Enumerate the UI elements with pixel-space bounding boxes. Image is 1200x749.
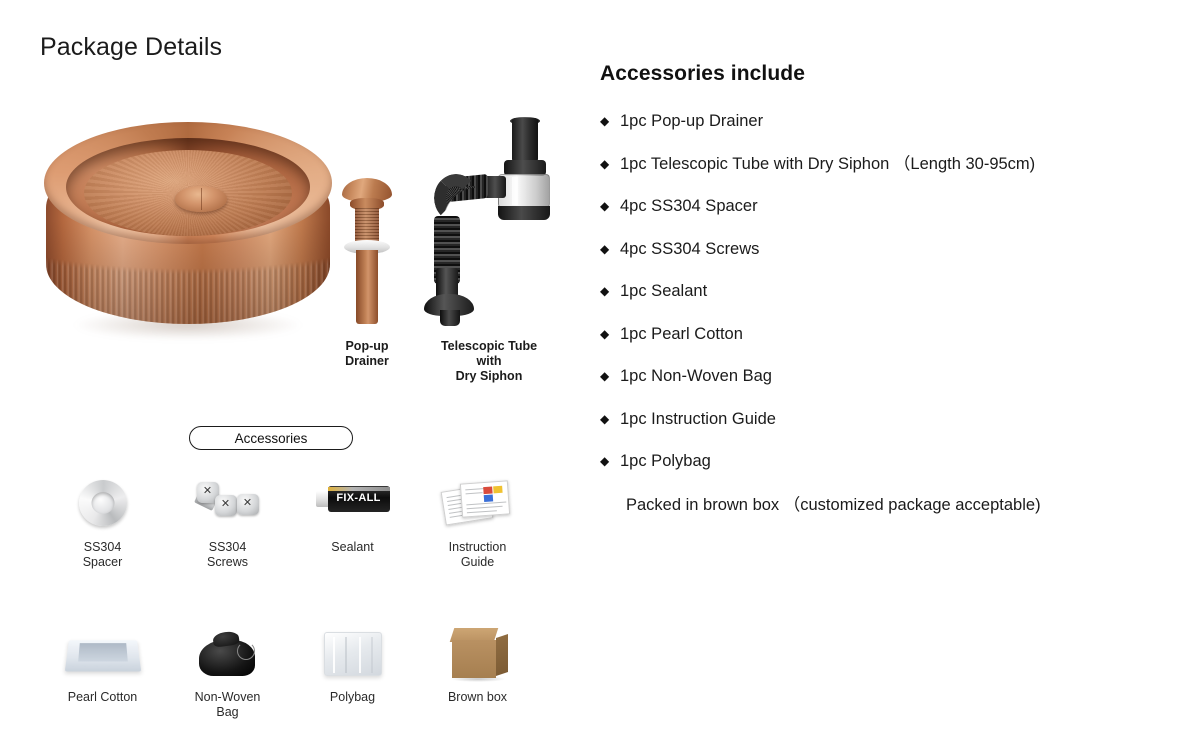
accessory-grid-row: SS304 Spacer SS304 Screws (40, 468, 560, 570)
accessory-label: SS304 Screws (165, 540, 290, 570)
diamond-bullet-icon: ◆ (600, 451, 620, 471)
pop-up-drainer-icon (340, 178, 394, 326)
list-item: ◆ 1pc Pearl Cotton (600, 324, 1170, 344)
non-woven-bag-icon (165, 622, 290, 684)
sealant-tube: FIX-ALL (316, 486, 390, 512)
pearl-cotton-box-icon (40, 622, 165, 684)
package-details-page: Package Details Pop-up Drainer (0, 0, 1200, 749)
carton-side-face (496, 634, 508, 676)
carton-front-face (452, 640, 496, 678)
polybag-sheet (324, 632, 382, 676)
basin-drain-cap (175, 186, 227, 212)
pearl-cotton-tray (67, 632, 139, 676)
list-item-label: 1pc Pop-up Drainer (620, 111, 763, 131)
sheet-text-line (466, 506, 502, 510)
diamond-bullet-icon: ◆ (600, 366, 620, 386)
accessory-label: Polybag (290, 690, 415, 705)
packaging-note: Packed in brown box （customized package … (626, 494, 1170, 516)
sheet-color-figure (483, 494, 492, 502)
washer-ring (79, 480, 127, 526)
carton-box (448, 628, 508, 678)
accessory-item-instruction-guide: Instruction Guide (415, 468, 540, 570)
polybag (324, 630, 382, 678)
list-item: ◆ 1pc Non-Woven Bag (600, 366, 1170, 386)
brown-carton-box-icon (415, 622, 540, 684)
screw-head (237, 494, 259, 515)
instruction-sheet (459, 480, 509, 517)
telescopic-tube-dry-siphon-icon (428, 118, 550, 326)
non-woven-bag (197, 630, 259, 678)
basin-render (44, 122, 332, 334)
tube-chamber-base (498, 206, 550, 220)
accessory-label: Brown box (415, 690, 540, 705)
accessory-label: SS304 Spacer (40, 540, 165, 570)
list-item-label: 1pc Non-Woven Bag (620, 366, 772, 386)
bag-drawstring (237, 642, 255, 660)
accessory-item-polybag: Polybag (290, 622, 415, 720)
accessory-label: Pearl Cotton (40, 690, 165, 705)
sheet-text-line (466, 510, 496, 513)
list-item-label: 1pc Instruction Guide (620, 409, 776, 429)
list-item: ◆ 1pc Sealant (600, 281, 1170, 301)
accessory-item-sealant: FIX-ALL Sealant (290, 468, 415, 570)
pop-up-drainer-label: Pop-up Drainer (318, 339, 416, 369)
list-item-label: 4pc SS304 Spacer (620, 196, 758, 216)
list-item-label: 4pc SS304 Screws (620, 239, 759, 259)
diamond-bullet-icon: ◆ (600, 409, 620, 429)
list-item: ◆ 4pc SS304 Spacer (600, 196, 1170, 216)
tube-vertical-inlet (512, 118, 538, 162)
accessory-grid-row: Pearl Cotton Non-Woven Bag (40, 622, 560, 720)
drainer-body-tube (356, 250, 378, 324)
page-title: Package Details (40, 33, 222, 62)
list-item: ◆ 1pc Pop-up Drainer (600, 111, 1170, 131)
diamond-bullet-icon: ◆ (600, 281, 620, 301)
list-item: ◆ 1pc Instruction Guide (600, 409, 1170, 429)
accessory-item-pearl-cotton: Pearl Cotton (40, 622, 165, 720)
polybag-icon (290, 622, 415, 684)
list-item-label: 1pc Telescopic Tube with Dry Siphon （Len… (620, 154, 1035, 174)
sealant-top-strip (328, 487, 390, 491)
diamond-bullet-icon: ◆ (600, 239, 620, 259)
list-item: ◆ 4pc SS304 Screws (600, 239, 1170, 259)
tube-bend (434, 174, 478, 222)
washer-spacer-icon (40, 468, 165, 534)
diamond-bullet-icon: ◆ (600, 196, 620, 216)
diamond-bullet-icon: ◆ (600, 154, 620, 174)
screws-icon (165, 468, 290, 534)
list-item-label: 1pc Polybag (620, 451, 711, 471)
screw-head (215, 495, 237, 516)
accessory-grid: SS304 Spacer SS304 Screws (40, 468, 560, 720)
sheet-color-figure (483, 486, 492, 494)
accessories-pill-label: Accessories (235, 431, 308, 446)
accessory-label: Sealant (290, 540, 415, 555)
accessory-label: Non-Woven Bag (165, 690, 290, 720)
copper-basin-image (44, 122, 332, 352)
list-item: ◆ 1pc Polybag (600, 451, 1170, 471)
sheet-text-line (465, 492, 482, 494)
diamond-bullet-icon: ◆ (600, 111, 620, 131)
screws-group (193, 478, 263, 526)
accessory-label: Instruction Guide (415, 540, 540, 570)
telescopic-tube-label: Telescopic Tube with Dry Siphon (404, 339, 574, 384)
accessories-panel: Accessories include ◆ 1pc Pop-up Drainer… (600, 62, 1170, 516)
accessory-item-ss304-spacer: SS304 Spacer (40, 468, 165, 570)
sheet-text-line (465, 488, 485, 490)
tube-outlet (440, 310, 460, 326)
accessory-item-ss304-screws: SS304 Screws (165, 468, 290, 570)
sheet-text-line (466, 502, 506, 506)
accessories-title: Accessories include (600, 62, 1170, 86)
sealant-tube-icon: FIX-ALL (290, 468, 415, 534)
sealant-brand-text: FIX-ALL (330, 492, 388, 504)
instruction-papers-icon (415, 468, 540, 534)
pearl-cotton-cavity (78, 643, 128, 661)
list-item-label: 1pc Sealant (620, 281, 707, 301)
accessories-pill-badge: Accessories (189, 426, 353, 450)
instruction-sheets (443, 480, 513, 526)
accessories-list: ◆ 1pc Pop-up Drainer ◆ 1pc Telescopic Tu… (600, 111, 1170, 471)
sheet-color-figure (493, 486, 502, 494)
accessory-item-non-woven-bag: Non-Woven Bag (165, 622, 290, 720)
diamond-bullet-icon: ◆ (600, 324, 620, 344)
accessory-item-brown-box: Brown box (415, 622, 540, 720)
list-item-label: 1pc Pearl Cotton (620, 324, 743, 344)
list-item: ◆ 1pc Telescopic Tube with Dry Siphon （L… (600, 154, 1170, 174)
